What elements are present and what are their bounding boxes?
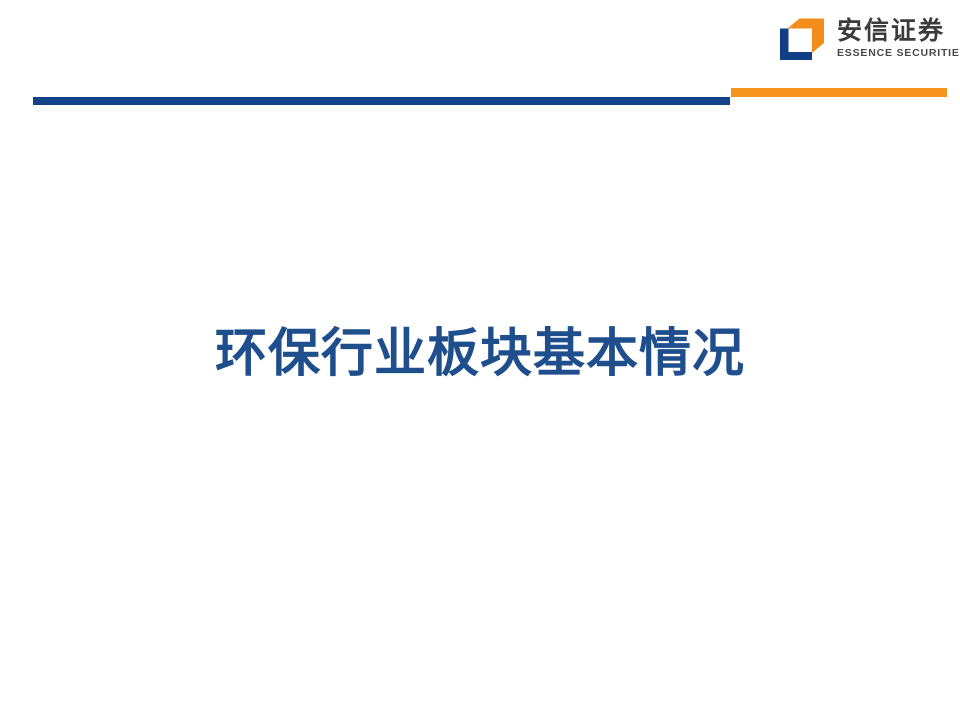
header-orange-rule — [731, 88, 947, 97]
brand-text: 安信证券 ESSENCE SECURITIES — [837, 18, 960, 60]
header-blue-rule — [33, 97, 730, 105]
page-title: 环保行业板块基本情况 — [215, 325, 745, 383]
brand-name-cn: 安信证券 — [837, 18, 960, 44]
brand-name-en: ESSENCE SECURITIES — [837, 47, 960, 60]
slide-canvas: 安信证券 ESSENCE SECURITIES 环保行业板块基本情况 — [0, 0, 960, 720]
brand-lockup: 安信证券 ESSENCE SECURITIES — [779, 16, 960, 62]
essence-securities-cube-logo-icon — [779, 16, 825, 62]
section-title-container: 环保行业板块基本情况 — [0, 325, 960, 383]
brand-header: 安信证券 ESSENCE SECURITIES — [731, 0, 960, 88]
